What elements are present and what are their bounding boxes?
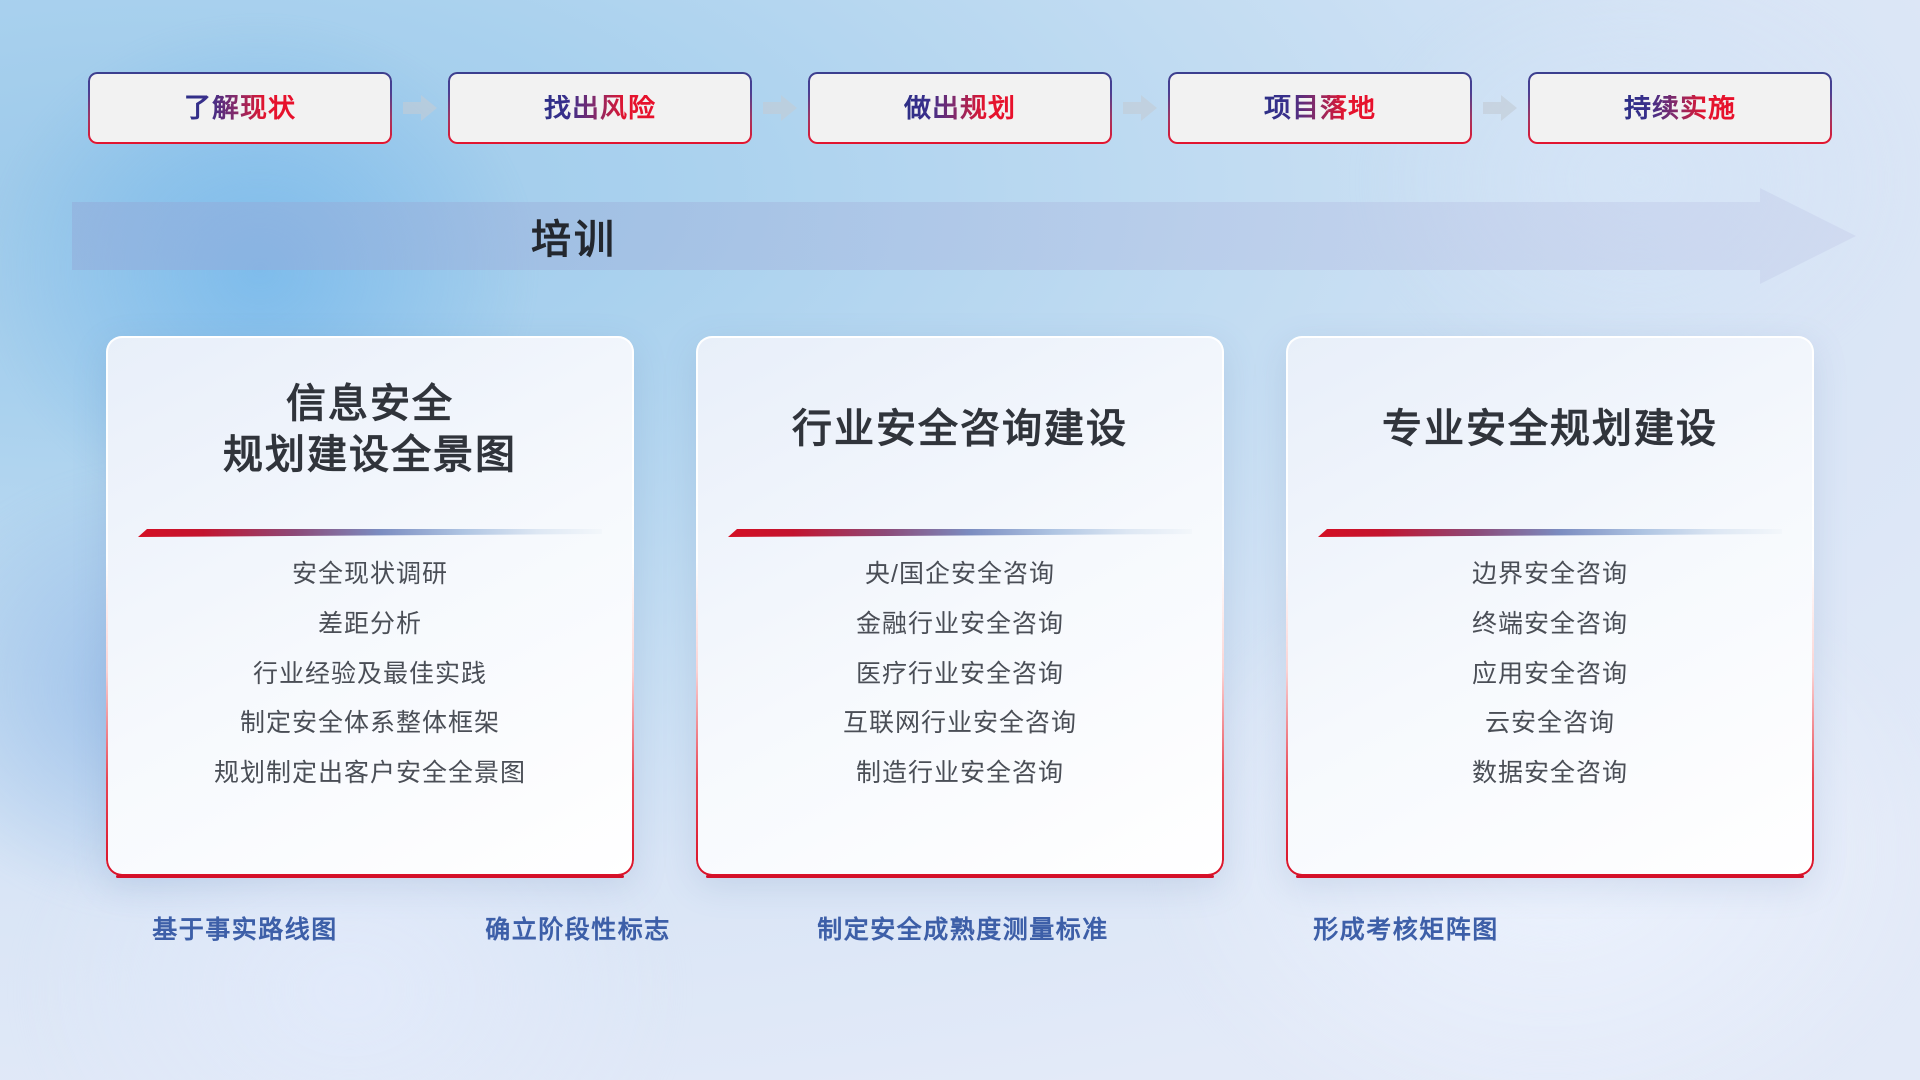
list-item: 差距分析 bbox=[318, 608, 422, 642]
list-item: 终端安全咨询 bbox=[1472, 608, 1628, 642]
process-step-2[interactable]: 找出风险 bbox=[448, 72, 752, 144]
list-item: 边界安全咨询 bbox=[1472, 558, 1628, 592]
card-1[interactable]: 信息安全 规划建设全景图 安全现状调研 bbox=[106, 336, 634, 876]
list-item: 安全现状调研 bbox=[292, 558, 448, 592]
card-divider-icon bbox=[138, 526, 602, 538]
list-item: 制定安全体系整体框架 bbox=[240, 707, 500, 741]
caption-row: 基于事实路线图 确立阶段性标志 制定安全成熟度测量标准 形成考核矩阵图 bbox=[0, 910, 1920, 966]
training-banner-title: 培训 bbox=[72, 188, 1856, 284]
list-item: 应用安全咨询 bbox=[1472, 658, 1628, 692]
process-step-label: 了解现状 bbox=[184, 95, 296, 122]
process-step-3[interactable]: 做出规划 bbox=[808, 72, 1112, 144]
process-step-label: 持续实施 bbox=[1624, 95, 1736, 122]
chevron-right-arrow-icon bbox=[403, 93, 437, 123]
process-step-label: 做出规划 bbox=[904, 95, 1016, 122]
card-2[interactable]: 行业安全咨询建设 央/国企安全咨询 金 bbox=[696, 336, 1224, 876]
process-step-1[interactable]: 了解现状 bbox=[88, 72, 392, 144]
list-item: 制造行业安全咨询 bbox=[856, 757, 1064, 791]
process-step-label: 找出风险 bbox=[544, 95, 656, 122]
chevron-right-arrow-icon bbox=[1123, 93, 1157, 123]
list-item: 云安全咨询 bbox=[1485, 707, 1615, 741]
training-banner: 培训 bbox=[72, 188, 1856, 284]
caption-3: 制定安全成熟度测量标准 bbox=[817, 910, 1109, 946]
caption-1: 基于事实路线图 bbox=[152, 910, 338, 946]
list-item: 规划制定出客户安全全景图 bbox=[214, 757, 526, 791]
card-item-list: 安全现状调研 差距分析 行业经验及最佳实践 制定安全体系整体框架 规划制定出客户… bbox=[106, 558, 634, 791]
process-step-row: 了解现状 找出风险 做出规划 项目落地 持续实施 bbox=[0, 72, 1920, 144]
process-step-4[interactable]: 项目落地 bbox=[1168, 72, 1472, 144]
caption-2: 确立阶段性标志 bbox=[485, 910, 671, 946]
list-item: 医疗行业安全咨询 bbox=[856, 658, 1064, 692]
caption-4: 形成考核矩阵图 bbox=[1313, 910, 1499, 946]
list-item: 互联网行业安全咨询 bbox=[843, 707, 1077, 741]
card-divider-icon bbox=[728, 526, 1192, 538]
card-item-list: 央/国企安全咨询 金融行业安全咨询 医疗行业安全咨询 互联网行业安全咨询 制造行… bbox=[696, 558, 1224, 791]
card-item-list: 边界安全咨询 终端安全咨询 应用安全咨询 云安全咨询 数据安全咨询 bbox=[1286, 558, 1814, 791]
chevron-right-arrow-icon bbox=[1483, 93, 1517, 123]
list-item: 央/国企安全咨询 bbox=[865, 558, 1055, 592]
card-3[interactable]: 专业安全规划建设 边界安全咨询 终端安 bbox=[1286, 336, 1814, 876]
chevron-right-arrow-icon bbox=[763, 93, 797, 123]
card-title: 信息安全 规划建设全景图 bbox=[106, 336, 634, 524]
card-title: 专业安全规划建设 bbox=[1286, 336, 1814, 524]
list-item: 行业经验及最佳实践 bbox=[253, 658, 487, 692]
list-item: 数据安全咨询 bbox=[1472, 757, 1628, 791]
card-divider-icon bbox=[1318, 526, 1782, 538]
process-step-label: 项目落地 bbox=[1264, 95, 1376, 122]
process-step-5[interactable]: 持续实施 bbox=[1528, 72, 1832, 144]
card-row: 信息安全 规划建设全景图 安全现状调研 bbox=[0, 336, 1920, 876]
list-item: 金融行业安全咨询 bbox=[856, 608, 1064, 642]
card-title: 行业安全咨询建设 bbox=[696, 336, 1224, 524]
